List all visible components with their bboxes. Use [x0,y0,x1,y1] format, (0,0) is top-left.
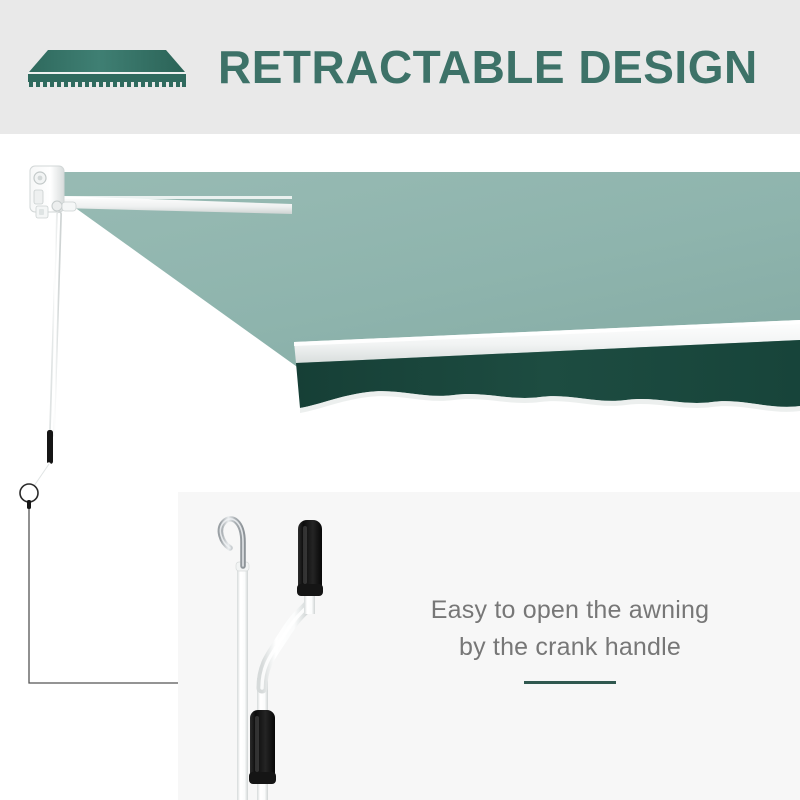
crank-handle [249,520,323,800]
pull-ring [20,484,38,502]
page-title: RETRACTABLE DESIGN [218,36,778,98]
feature-caption: Easy to open the awning by the crank han… [390,592,750,666]
header-band: RETRACTABLE DESIGN [0,0,800,134]
caption-divider [524,681,616,684]
caption-line-2: by the crank handle [390,629,750,666]
crank-grip-bottom [249,710,276,784]
crank-grip-upper [47,430,53,464]
crank-grip-top [297,520,323,596]
crank-rod-hanging [20,214,59,509]
caption-line-1: Easy to open the awning [390,592,750,629]
awning-icon [22,44,192,92]
product-feature-image: RETRACTABLE DESIGN [0,0,800,800]
hook-rod [220,519,249,800]
callout-leader-line [29,509,178,683]
detail-panel: Easy to open the awning by the crank han… [178,492,800,800]
